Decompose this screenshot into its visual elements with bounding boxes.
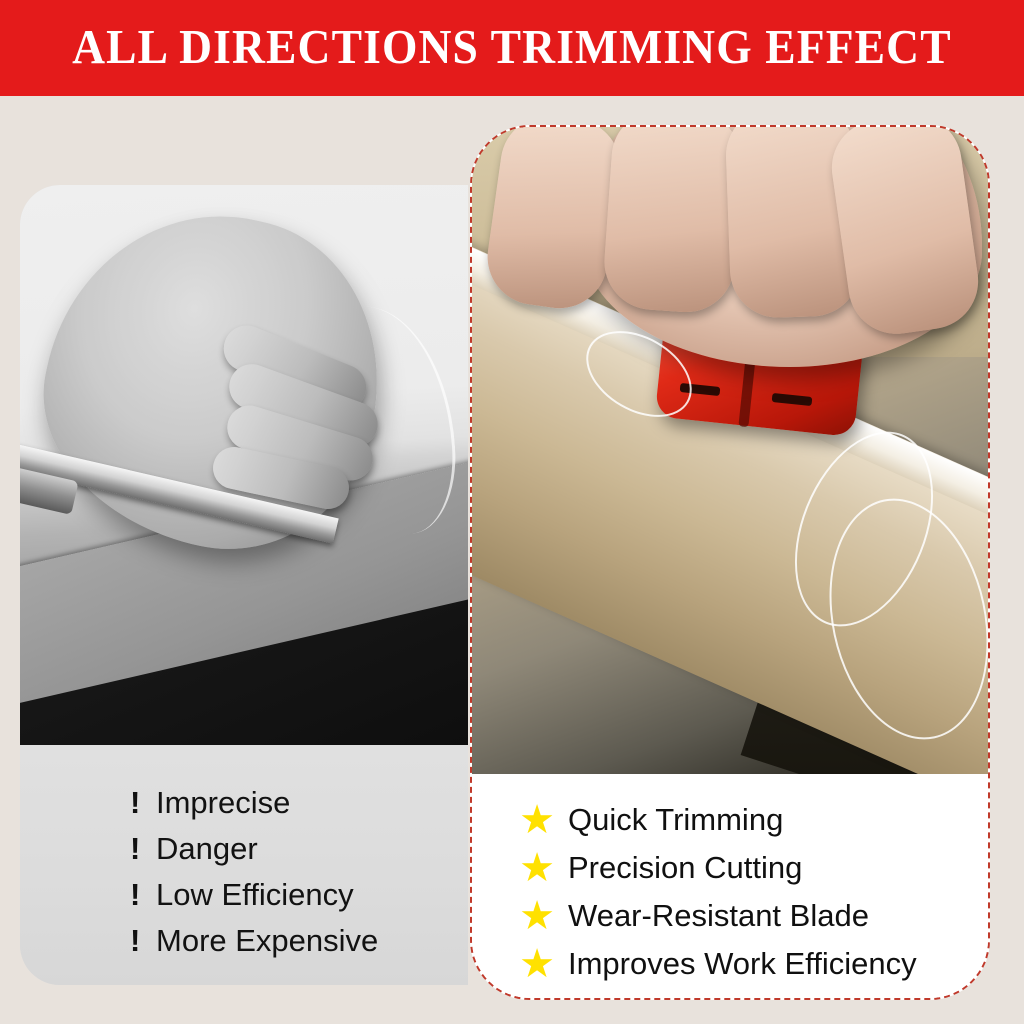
list-item-label: Precision Cutting [568, 850, 802, 886]
list-item-label: Quick Trimming [568, 802, 783, 838]
exclamation-icon: ! [130, 785, 156, 821]
list-item: ! Low Efficiency [130, 877, 468, 923]
right-comparison-panel: ★ Quick Trimming ★ Precision Cutting ★ W… [470, 125, 990, 1000]
left-feature-list: ! Imprecise ! Danger ! Low Efficiency ! … [20, 745, 468, 985]
list-item: ★ Precision Cutting [520, 844, 988, 892]
list-item: ! Imprecise [130, 785, 468, 831]
star-icon: ★ [520, 899, 554, 933]
list-item-label: Danger [156, 831, 258, 867]
list-item-label: Improves Work Efficiency [568, 946, 917, 982]
list-item: ★ Wear-Resistant Blade [520, 892, 988, 940]
list-item-label: Wear-Resistant Blade [568, 898, 869, 934]
list-item-label: Imprecise [156, 785, 290, 821]
star-icon: ★ [520, 851, 554, 885]
right-feature-list: ★ Quick Trimming ★ Precision Cutting ★ W… [472, 774, 988, 1000]
header-banner: ALL DIRECTIONS TRIMMING EFFECT [0, 0, 1024, 96]
list-item: ★ Improves Work Efficiency [520, 940, 988, 988]
chisel-trimming-photo [20, 185, 468, 745]
star-icon: ★ [520, 947, 554, 981]
left-comparison-panel: ! Imprecise ! Danger ! Low Efficiency ! … [20, 185, 468, 985]
page-title: ALL DIRECTIONS TRIMMING EFFECT [72, 22, 952, 75]
exclamation-icon: ! [130, 923, 156, 959]
list-item: ★ Quick Trimming [520, 796, 988, 844]
star-icon: ★ [520, 803, 554, 837]
list-item-label: Low Efficiency [156, 877, 354, 913]
list-item: ! Danger [130, 831, 468, 877]
exclamation-icon: ! [130, 831, 156, 867]
finger-shape [601, 127, 745, 315]
exclamation-icon: ! [130, 877, 156, 913]
list-item: ! More Expensive [130, 923, 468, 969]
edge-trimmer-photo [472, 127, 988, 774]
list-item-label: More Expensive [156, 923, 378, 959]
